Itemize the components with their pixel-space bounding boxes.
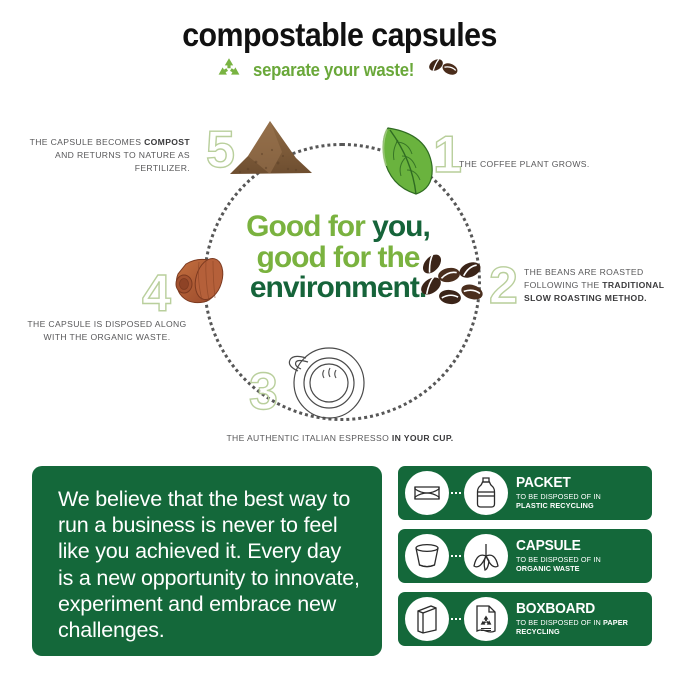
disposal-cards: PACKET TO BE DISPOSED OF INPLASTIC RECYC… bbox=[398, 466, 652, 655]
step-5-caption: THE CAPSULE BECOMES COMPOST AND RETURNS … bbox=[18, 136, 190, 175]
boxboard-carton-icon bbox=[405, 597, 449, 641]
card-subtitle: TO BE DISPOSED OF INORGANIC WASTE bbox=[516, 555, 601, 574]
step-1-caption: THE COFFEE PLANT GROWS. bbox=[459, 158, 619, 171]
card-title: PACKET bbox=[516, 475, 597, 491]
slogan-line-3: environment. bbox=[228, 273, 448, 304]
connector-dots bbox=[449, 471, 464, 515]
step-3-caption: THE AUTHENTIC ITALIAN ESPRESSO IN YOUR C… bbox=[190, 432, 490, 445]
compost-pile-icon bbox=[226, 118, 316, 185]
card-subtitle: TO BE DISPOSED OF INPLASTIC RECYCLING bbox=[516, 492, 601, 511]
leaf-icon bbox=[378, 120, 440, 203]
step-4-caption: THE CAPSULE IS DISPOSED ALONG WITH THE O… bbox=[18, 318, 196, 344]
packet-text-block: PACKET TO BE DISPOSED OF INPLASTIC RECYC… bbox=[508, 475, 604, 511]
step-2-number: 2 bbox=[489, 256, 518, 316]
boxboard-text-block: BOXBOARD TO BE DISPOSED OF IN PAPER RECY… bbox=[508, 601, 652, 637]
step-1-number: 1 bbox=[433, 125, 462, 185]
quote-text: We believe that the best way to run a bu… bbox=[32, 466, 382, 643]
coffee-capsule-icon bbox=[405, 534, 449, 578]
plastic-bottle-icon bbox=[464, 471, 508, 515]
center-slogan: Good for you, good for the environment. bbox=[228, 212, 448, 304]
lifecycle-diagram: Good for you, good for the environment. … bbox=[0, 0, 679, 460]
quote-panel: We believe that the best way to run a bu… bbox=[32, 466, 382, 656]
connector-dots bbox=[449, 597, 464, 641]
disposal-card-boxboard[interactable]: BOXBOARD TO BE DISPOSED OF IN PAPER RECY… bbox=[398, 592, 652, 646]
infographic-page: compostable capsules separate your waste… bbox=[0, 0, 679, 679]
paper-recycling-icon bbox=[464, 597, 508, 641]
step-3-number: 3 bbox=[249, 362, 278, 422]
connector-dots bbox=[449, 534, 464, 578]
coffee-beans-icon bbox=[416, 248, 496, 315]
slogan-line-2: good for the bbox=[228, 243, 448, 274]
capsule-icon bbox=[166, 254, 228, 313]
espresso-cup-icon bbox=[284, 340, 368, 429]
capsule-text-block: CAPSULE TO BE DISPOSED OF INORGANIC WAST… bbox=[508, 538, 604, 574]
card-title: CAPSULE bbox=[516, 538, 597, 554]
step-2-caption: THE BEANS ARE ROASTED FOLLOWING THE TRAD… bbox=[524, 266, 679, 305]
disposal-card-capsule[interactable]: CAPSULE TO BE DISPOSED OF INORGANIC WAST… bbox=[398, 529, 652, 583]
slogan-line-1: Good for you, bbox=[228, 212, 448, 243]
disposal-card-packet[interactable]: PACKET TO BE DISPOSED OF INPLASTIC RECYC… bbox=[398, 466, 652, 520]
card-title: BOXBOARD bbox=[516, 601, 641, 617]
packet-sachet-icon bbox=[405, 471, 449, 515]
banana-peel-icon bbox=[464, 534, 508, 578]
card-subtitle: TO BE DISPOSED OF IN PAPER RECYCLING bbox=[516, 618, 647, 637]
